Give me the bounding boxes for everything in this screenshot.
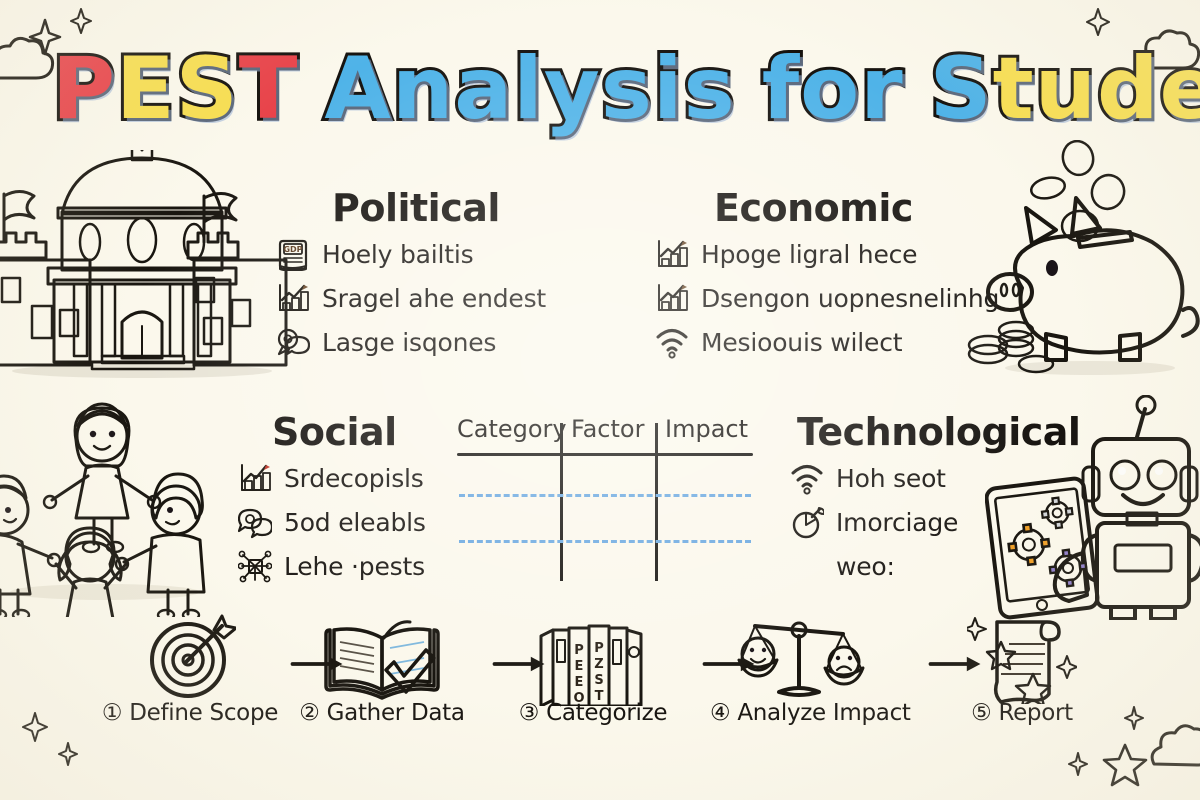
children-holding-hands-illustration xyxy=(0,392,220,617)
target-arrow-icon xyxy=(100,608,280,700)
list-item-label: Hoh seot xyxy=(836,464,946,493)
speech-bubbles-icon xyxy=(276,325,310,359)
title-letter: T xyxy=(239,34,299,144)
table-row-line xyxy=(459,540,751,543)
list-item: weo: xyxy=(790,544,958,588)
pest-worksheet-table: Category Factor Impact xyxy=(455,415,755,590)
list-item: Mesioouis wilect xyxy=(655,320,999,364)
page-title: PESTAnalysisforStudents xyxy=(52,34,1152,144)
table-header-rule xyxy=(457,453,753,456)
title-letter: y xyxy=(544,34,601,144)
balance-scale-icon xyxy=(710,608,890,700)
flow-step-label: ① Define Scope xyxy=(100,700,280,726)
sparkle-icon xyxy=(22,712,48,742)
list-item: Lehe ·pests xyxy=(238,544,426,588)
table-header-factor: Factor xyxy=(571,415,644,443)
title-letter: S xyxy=(930,34,993,144)
list-item-label: Lehe ·pests xyxy=(284,552,425,581)
spacer-icon xyxy=(790,549,824,583)
list-item-label: 5od eleabls xyxy=(284,508,426,537)
open-book-check-icon xyxy=(292,608,472,700)
list-item-label: Srdecopisls xyxy=(284,464,424,493)
list-item: Hpoge ligral hece xyxy=(655,232,999,276)
list-item: Sragel ahe endest xyxy=(276,276,546,320)
list-item-label: Hpoge ligral hece xyxy=(701,240,917,269)
list-item-label: Imorciage xyxy=(836,508,958,537)
title-letter: l xyxy=(513,34,543,144)
bar-chart-up-icon xyxy=(655,281,689,315)
flow-step-1: ① Define Scope xyxy=(100,608,280,726)
section-heading-political: Political xyxy=(332,186,500,230)
speech-bubbles-icon xyxy=(238,505,272,539)
title-letter: u xyxy=(1035,34,1097,144)
gdp-book-icon: GDP xyxy=(276,237,310,271)
binders-icon: P E E O P Z S T xyxy=(503,608,683,700)
sparkle-icon xyxy=(70,8,92,34)
process-flow: ① Define Scope xyxy=(60,608,1140,778)
section-heading-social: Social xyxy=(272,410,397,454)
svg-text:T: T xyxy=(595,689,604,704)
flow-step-3: P E E O P Z S T ③ Categorize xyxy=(503,608,683,726)
government-building-illustration xyxy=(0,150,292,380)
list-item: 5od eleabls xyxy=(238,500,426,544)
robot-with-tablet-illustration xyxy=(985,395,1200,620)
political-bullet-list: GDP Hoely bailtis S xyxy=(276,232,546,364)
list-item: Hoh seot xyxy=(790,456,958,500)
title-letter: S xyxy=(176,34,239,144)
table-header-category: Category xyxy=(457,415,567,443)
table-column-divider xyxy=(655,423,658,581)
table-column-divider xyxy=(560,423,563,581)
flow-step-5: ⑤ Report xyxy=(932,608,1112,726)
pie-chart-icon xyxy=(790,505,824,539)
svg-text:GDP: GDP xyxy=(283,245,302,254)
section-heading-economic: Economic xyxy=(714,186,913,230)
title-letter: n xyxy=(392,34,454,144)
svg-text:O: O xyxy=(573,691,584,706)
list-item: Lasge isqones xyxy=(276,320,546,364)
list-item-label: weo: xyxy=(836,552,895,581)
title-letter: E xyxy=(116,34,176,144)
technological-bullet-list: Hoh seot Imorciage weo: xyxy=(790,456,958,588)
list-item-label: Dsengon uopnesnelinhg xyxy=(701,284,999,313)
svg-text:S: S xyxy=(594,673,603,688)
bar-chart-up-icon xyxy=(276,281,310,315)
table-header-impact: Impact xyxy=(665,415,748,443)
title-letter: A xyxy=(324,34,392,144)
svg-text:E: E xyxy=(575,675,584,690)
title-letter: t xyxy=(993,34,1035,144)
list-item: Imorciage xyxy=(790,500,958,544)
wifi-icon xyxy=(790,461,824,495)
sparkle-icon xyxy=(1086,8,1110,36)
flow-step-2: ② Gather Data xyxy=(292,608,472,726)
pest-analysis-poster: PESTAnalysisforStudents xyxy=(0,0,1200,800)
svg-text:P: P xyxy=(574,643,584,658)
title-letter: P xyxy=(52,34,116,144)
social-bullet-list: Srdecopisls 5od eleabls xyxy=(238,456,426,588)
title-letter: a xyxy=(454,34,513,144)
svg-text:Z: Z xyxy=(594,657,603,672)
list-item: GDP Hoely bailtis xyxy=(276,232,546,276)
title-letter: i xyxy=(653,34,683,144)
network-node-icon xyxy=(238,549,272,583)
title-letter: o xyxy=(800,34,860,144)
bar-chart-up-icon xyxy=(655,237,689,271)
svg-text:E: E xyxy=(575,659,584,674)
list-item-label: Mesioouis wilect xyxy=(701,328,902,357)
flow-step-4: ④ Analyze Impact xyxy=(710,608,890,726)
list-item-label: Sragel ahe endest xyxy=(322,284,546,313)
cloud-bottom-right-icon xyxy=(1150,716,1200,776)
title-letter: s xyxy=(601,34,653,144)
list-item-label: Lasge isqones xyxy=(322,328,496,357)
list-item: Srdecopisls xyxy=(238,456,426,500)
title-letter: d xyxy=(1097,34,1160,144)
title-letter: e xyxy=(1160,34,1200,144)
bar-chart-up-icon xyxy=(238,461,272,495)
wifi-icon xyxy=(655,325,689,359)
list-item-label: Hoely bailtis xyxy=(322,240,473,269)
economic-bullet-list: Hpoge ligral hece Dsengon uopnesnelinhg xyxy=(655,232,999,364)
title-letter: r xyxy=(860,34,903,144)
title-letter: f xyxy=(762,34,800,144)
scroll-report-icon xyxy=(932,608,1112,700)
title-letter: s xyxy=(683,34,735,144)
table-row-line xyxy=(459,494,751,497)
list-item: Dsengon uopnesnelinhg xyxy=(655,276,999,320)
svg-text:P: P xyxy=(594,641,604,656)
